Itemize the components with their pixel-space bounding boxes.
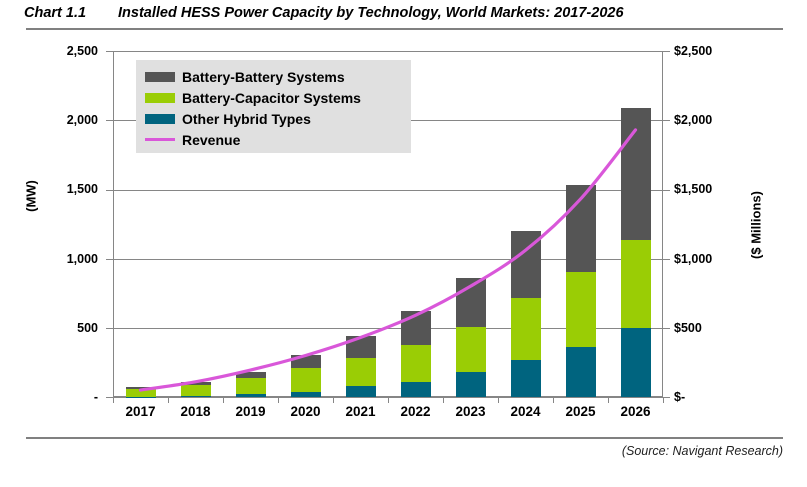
y-axis-right-title: ($ Millions)	[749, 191, 764, 259]
bar-segment[interactable]	[456, 372, 486, 397]
bar-segment[interactable]	[126, 389, 156, 397]
x-axis-tick	[443, 397, 444, 403]
bar-segment[interactable]	[401, 311, 431, 345]
legend-item-label: Other Hybrid Types	[182, 112, 311, 126]
legend-item-label: Battery-Battery Systems	[182, 70, 345, 84]
legend-item[interactable]: Other Hybrid Types	[145, 108, 410, 129]
x-axis-tick-label-2017: 2017	[113, 404, 169, 419]
bar-segment[interactable]	[346, 386, 376, 397]
y-axis-left-tick-2500: 2,500	[8, 44, 98, 58]
bar-group-2019[interactable]	[236, 372, 266, 397]
bar-segment[interactable]	[291, 368, 321, 392]
bar-group-2026[interactable]	[621, 108, 651, 397]
bar-group-2018[interactable]	[181, 382, 211, 397]
chart-title: Installed HESS Power Capacity by Technol…	[118, 5, 624, 21]
y-axis-right-tick-2500: $2,500	[674, 44, 754, 58]
x-axis-tick-label-2023: 2023	[443, 404, 499, 419]
legend-item-label: Battery-Capacitor Systems	[182, 91, 361, 105]
bar-segment[interactable]	[181, 396, 211, 397]
bar-segment[interactable]	[621, 240, 651, 328]
x-axis-tick-label-2020: 2020	[278, 404, 334, 419]
bar-segment[interactable]	[236, 372, 266, 378]
source-note: (Source: Navigant Research)	[0, 444, 783, 458]
chart-number-label: Chart 1.1	[24, 5, 86, 21]
y-axis-left-title: (MW)	[24, 180, 39, 212]
chart-legend: Battery-Battery SystemsBattery-Capacitor…	[136, 60, 411, 153]
bar-segment[interactable]	[566, 272, 596, 346]
bar-segment[interactable]	[126, 387, 156, 389]
y-axis-left-line	[113, 51, 114, 397]
legend-line-swatch	[145, 138, 175, 141]
legend-color-swatch	[145, 93, 175, 103]
bar-segment[interactable]	[511, 360, 541, 397]
bar-segment[interactable]	[566, 347, 596, 397]
bar-group-2023[interactable]	[456, 278, 486, 397]
x-axis-tick	[278, 397, 279, 403]
bar-segment[interactable]	[566, 185, 596, 273]
x-axis-tick-label-2025: 2025	[553, 404, 609, 419]
x-axis-tick	[223, 397, 224, 403]
y-axis-left-tick-500: 500	[8, 321, 98, 335]
bar-segment[interactable]	[621, 108, 651, 240]
bar-segment[interactable]	[401, 382, 431, 397]
y-axis-left-tick-1000: 1,000	[8, 252, 98, 266]
y-axis-right-line	[662, 51, 663, 397]
bar-group-2020[interactable]	[291, 355, 321, 397]
bar-segment[interactable]	[511, 231, 541, 298]
legend-item[interactable]: Revenue	[145, 129, 410, 150]
bar-group-2022[interactable]	[401, 311, 431, 397]
bar-segment[interactable]	[181, 382, 211, 385]
bar-segment[interactable]	[621, 328, 651, 397]
x-axis-tick	[168, 397, 169, 403]
bar-segment[interactable]	[346, 336, 376, 358]
x-axis-tick-label-2018: 2018	[168, 404, 224, 419]
x-axis-tick	[498, 397, 499, 403]
bar-group-2024[interactable]	[511, 231, 541, 397]
bar-group-2021[interactable]	[346, 336, 376, 397]
y-axis-right-tick-0: $-	[674, 390, 754, 404]
legend-item[interactable]: Battery-Capacitor Systems	[145, 87, 410, 108]
header-divider	[26, 28, 783, 30]
x-axis-tick-label-2019: 2019	[223, 404, 279, 419]
bar-group-2025[interactable]	[566, 185, 596, 397]
x-axis-tick	[553, 397, 554, 403]
y-axis-left-tick-0: -	[8, 390, 98, 404]
x-axis-tick-label-2022: 2022	[388, 404, 444, 419]
x-axis-tick	[608, 397, 609, 403]
x-axis-tick	[663, 397, 664, 403]
bar-segment[interactable]	[456, 327, 486, 372]
y-axis-right-tick-1000: $1,000	[674, 252, 754, 266]
y-axis-right-tick-2000: $2,000	[674, 113, 754, 127]
x-axis-tick-label-2026: 2026	[608, 404, 664, 419]
bar-segment[interactable]	[456, 278, 486, 327]
legend-item-label: Revenue	[182, 133, 240, 147]
x-axis-tick-label-2021: 2021	[333, 404, 389, 419]
footer-divider	[26, 437, 783, 439]
bar-segment[interactable]	[181, 385, 211, 396]
bar-group-2017[interactable]	[126, 387, 156, 397]
bar-segment[interactable]	[236, 378, 266, 394]
legend-color-swatch	[145, 114, 175, 124]
x-axis-tick-label-2024: 2024	[498, 404, 554, 419]
chart-header: Chart 1.1 Installed HESS Power Capacity …	[0, 0, 807, 34]
x-axis-tick	[388, 397, 389, 403]
x-axis-tick	[333, 397, 334, 403]
y-axis-left-tick-1500: 1,500	[8, 182, 98, 196]
bar-segment[interactable]	[346, 358, 376, 386]
y-axis-left-tick-2000: 2,000	[8, 113, 98, 127]
bar-segment[interactable]	[511, 298, 541, 360]
bar-segment[interactable]	[236, 394, 266, 397]
y-axis-right-tick-1500: $1,500	[674, 182, 754, 196]
legend-color-swatch	[145, 72, 175, 82]
bar-segment[interactable]	[291, 355, 321, 368]
legend-item[interactable]: Battery-Battery Systems	[145, 66, 410, 87]
y-axis-right-tick-500: $500	[674, 321, 754, 335]
bar-segment[interactable]	[291, 392, 321, 397]
x-axis-tick	[113, 397, 114, 403]
gridline-2500	[113, 51, 663, 52]
bar-segment[interactable]	[401, 345, 431, 382]
